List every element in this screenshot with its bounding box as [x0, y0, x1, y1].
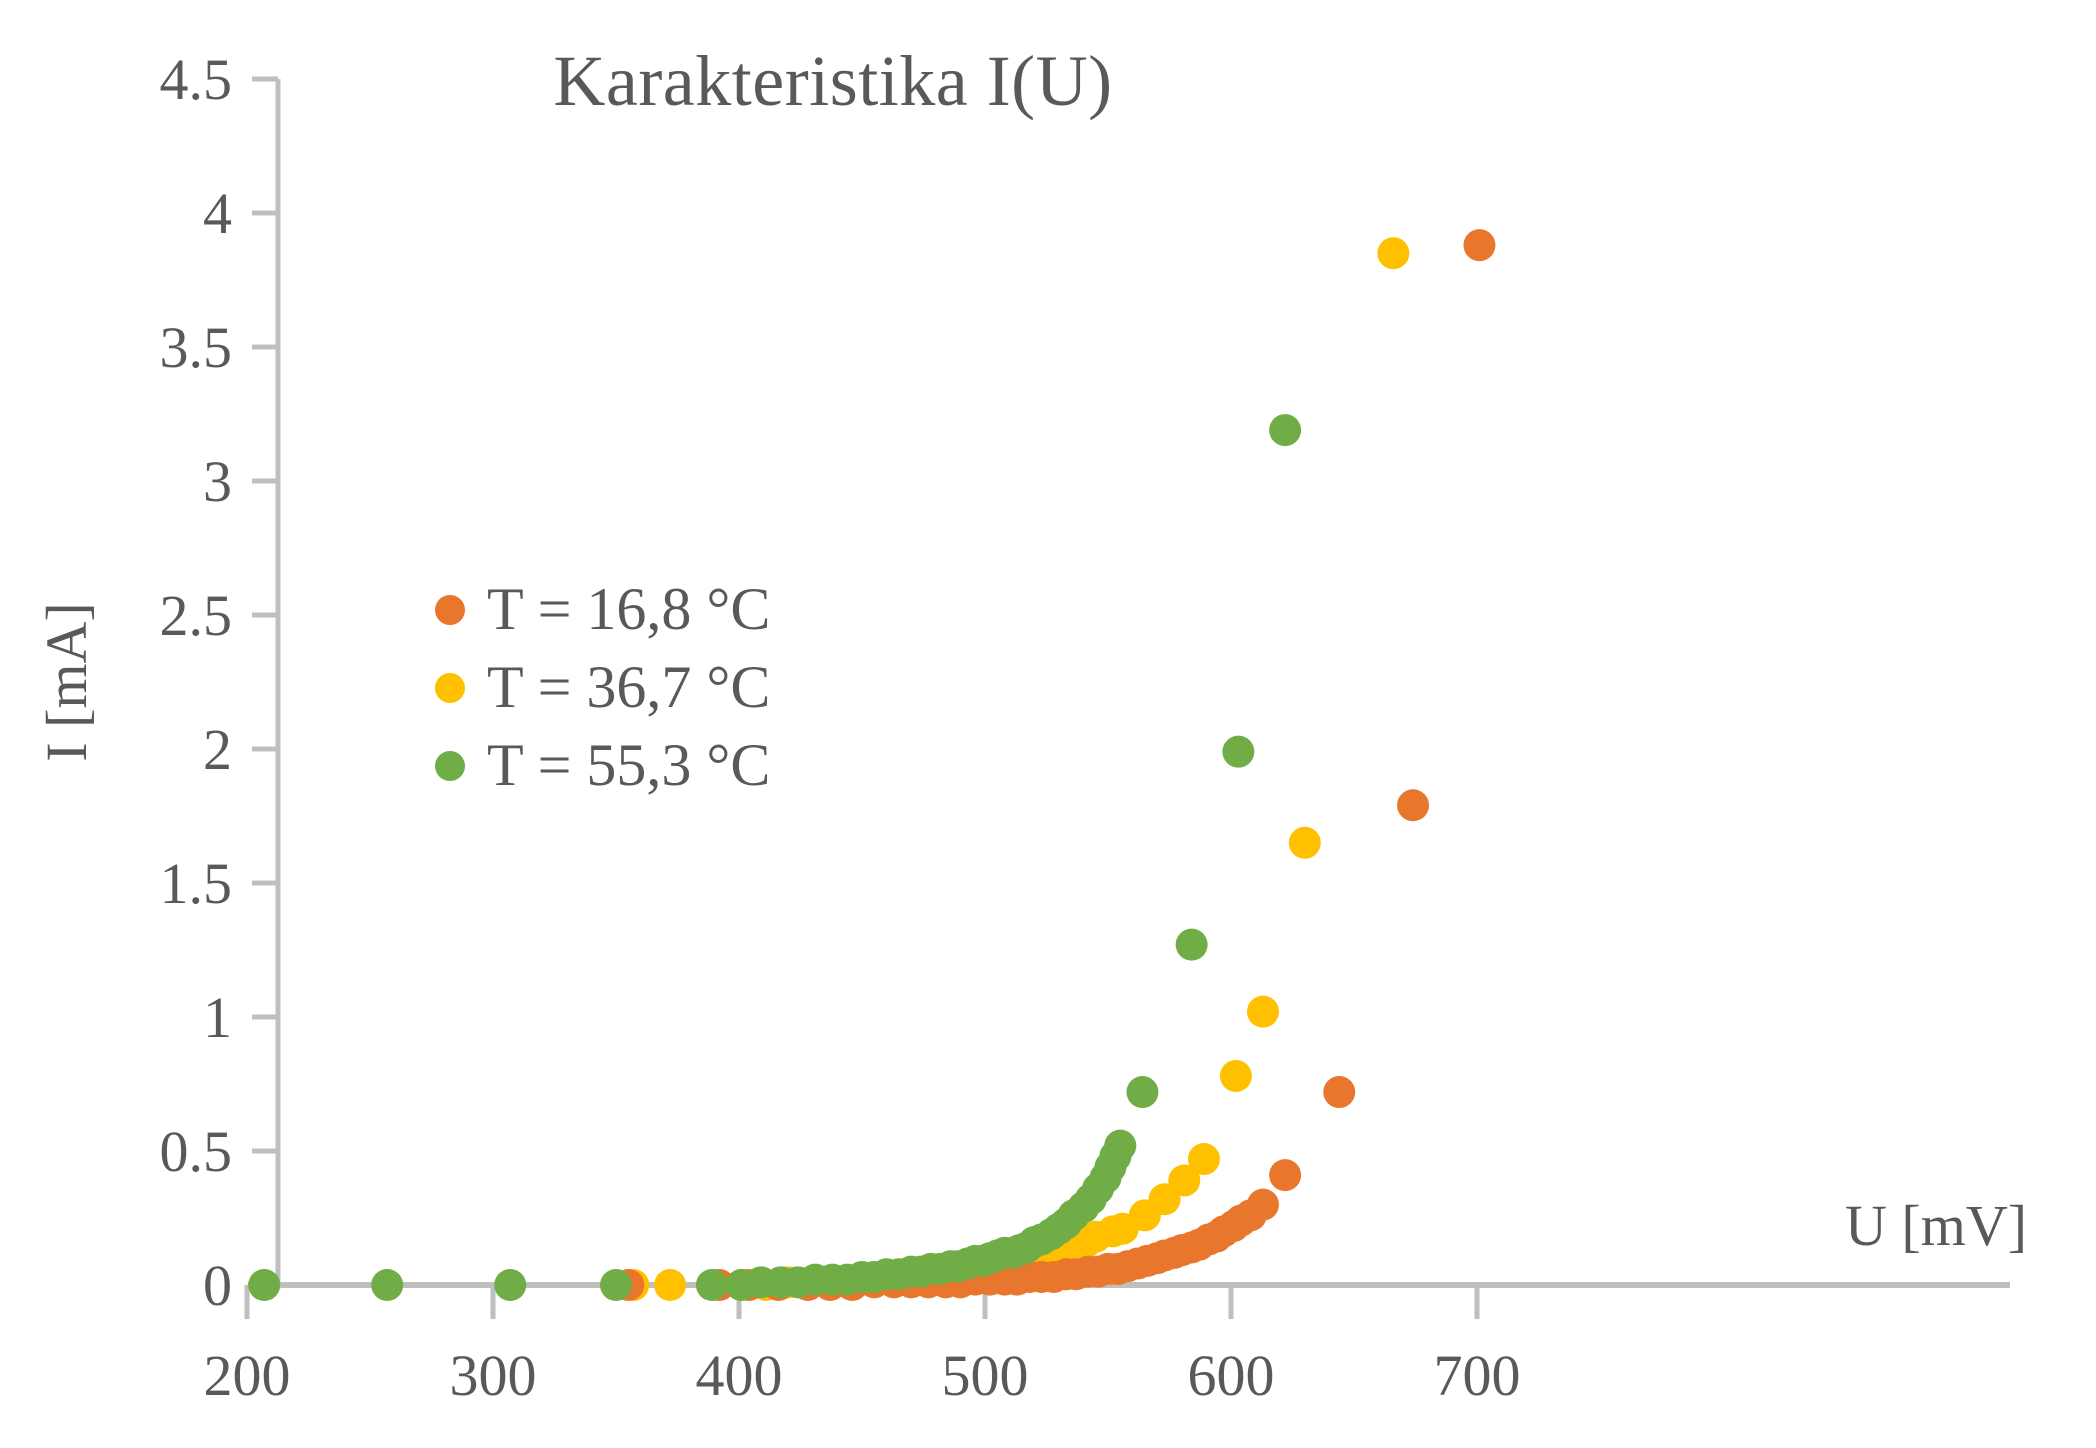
data-point — [1220, 1060, 1252, 1092]
data-point — [1176, 929, 1208, 961]
data-point — [654, 1269, 686, 1301]
data-point — [1463, 229, 1495, 261]
y-axis-title: I [mA] — [34, 602, 99, 761]
data-point — [696, 1269, 728, 1301]
y-axis-tick-label: 0.5 — [160, 1119, 233, 1184]
data-point — [1126, 1076, 1158, 1108]
legend-marker-icon — [435, 595, 465, 625]
y-axis-tick-label: 4 — [203, 181, 232, 246]
data-series — [248, 414, 1301, 1301]
y-axis-tick-label: 2.5 — [160, 583, 233, 648]
data-point — [1247, 996, 1279, 1028]
y-axis-tick-label: 0 — [203, 1253, 232, 1318]
y-axis-tick-label: 3 — [203, 449, 232, 514]
legend-item-label: T = 55,3 °C — [487, 731, 770, 800]
data-point — [1104, 1130, 1136, 1162]
data-point — [494, 1269, 526, 1301]
y-axis-tick-label: 3.5 — [160, 315, 233, 380]
data-point — [1247, 1189, 1279, 1221]
data-point — [1269, 1159, 1301, 1191]
legend-item[interactable]: T = 55,3 °C — [435, 731, 770, 800]
data-point — [1323, 1076, 1355, 1108]
axis-labels-layer: 00.511.522.533.544.5200300400500600700I … — [34, 47, 2027, 1408]
data-point — [1188, 1143, 1220, 1175]
data-point — [1289, 827, 1321, 859]
data-point — [1269, 414, 1301, 446]
data-point — [371, 1269, 403, 1301]
x-axis-tick-label: 200 — [204, 1343, 291, 1408]
legend-item[interactable]: T = 36,7 °C — [435, 653, 770, 722]
data-point — [248, 1269, 280, 1301]
data-point — [600, 1269, 632, 1301]
legend-item[interactable]: T = 16,8 °C — [435, 575, 770, 644]
legend-marker-icon — [435, 751, 465, 781]
x-axis-title: U [mV] — [1845, 1193, 2027, 1258]
y-axis-tick-label: 4.5 — [160, 47, 233, 112]
data-point — [1377, 237, 1409, 269]
x-axis-tick-label: 600 — [1188, 1343, 1275, 1408]
x-axis-tick-label: 300 — [450, 1343, 537, 1408]
y-axis-tick-label: 1 — [203, 985, 232, 1050]
chart-page: Karakteristika I(U) 00.511.522.533.544.5… — [0, 0, 2096, 1448]
x-axis-tick-label: 400 — [696, 1343, 783, 1408]
y-axis-tick-label: 1.5 — [160, 851, 233, 916]
data-point — [1397, 789, 1429, 821]
data-point — [1222, 736, 1254, 768]
x-axis-tick-label: 700 — [1434, 1343, 1521, 1408]
chart-plot-area: 00.511.522.533.544.5200300400500600700I … — [0, 0, 2096, 1448]
legend-marker-icon — [435, 673, 465, 703]
legend-item-label: T = 16,8 °C — [487, 575, 770, 644]
legend-item-label: T = 36,7 °C — [487, 653, 770, 722]
y-axis-tick-label: 2 — [203, 717, 232, 782]
x-axis-tick-label: 500 — [942, 1343, 1029, 1408]
